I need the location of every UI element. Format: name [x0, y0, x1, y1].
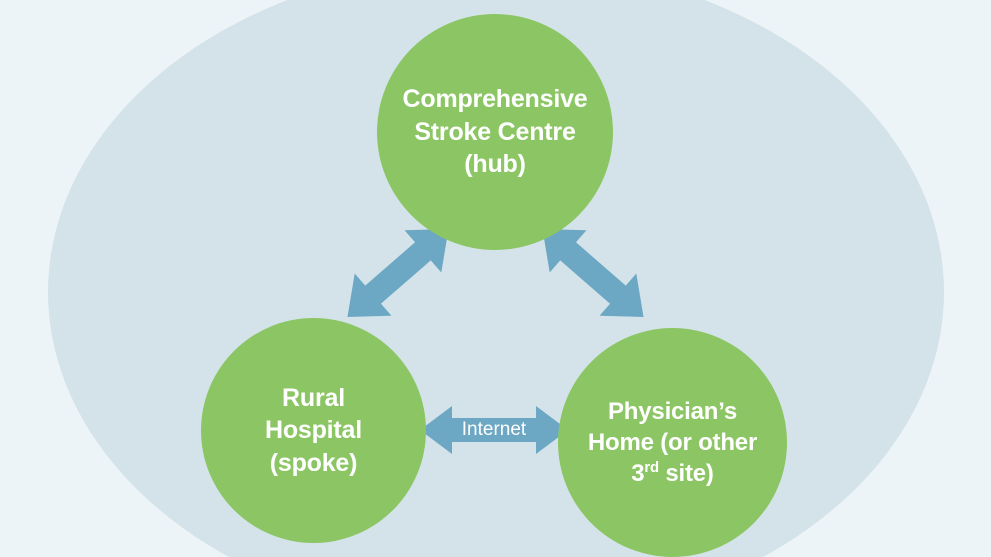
node-hub-label: Comprehensive Stroke Centre (hub) [377, 83, 613, 181]
node-hub-line2: Stroke Centre [414, 118, 575, 146]
diagram-canvas: Internet Comprehensive Stroke Centre (hu… [0, 0, 991, 557]
node-hub-line3: (hub) [464, 150, 525, 178]
node-third-line3: 3rd site) [631, 460, 713, 487]
node-physicians-home[interactable]: Physician’s Home (or other 3rd site) [558, 328, 787, 557]
node-hub-line1: Comprehensive [403, 85, 588, 113]
node-third-line2: Home (or other [588, 429, 757, 456]
rural-hospital-to-physicians-home-arrow [418, 402, 570, 458]
node-rural-hospital[interactable]: Rural Hospital (spoke) [201, 318, 426, 543]
node-third-ordinal-suffix: rd [644, 460, 658, 476]
node-spoke-line1: Rural [282, 384, 345, 412]
node-spoke-line3: (spoke) [270, 449, 358, 477]
node-comprehensive-stroke-centre[interactable]: Comprehensive Stroke Centre (hub) [377, 14, 613, 250]
node-third-label: Physician’s Home (or other 3rd site) [558, 396, 787, 490]
node-spoke-label: Rural Hospital (spoke) [201, 382, 426, 480]
node-third-line3-rest: site) [659, 460, 714, 487]
node-third-ordinal-number: 3 [631, 460, 644, 487]
node-third-line1: Physician’s [608, 398, 737, 425]
node-spoke-line2: Hospital [265, 416, 362, 444]
